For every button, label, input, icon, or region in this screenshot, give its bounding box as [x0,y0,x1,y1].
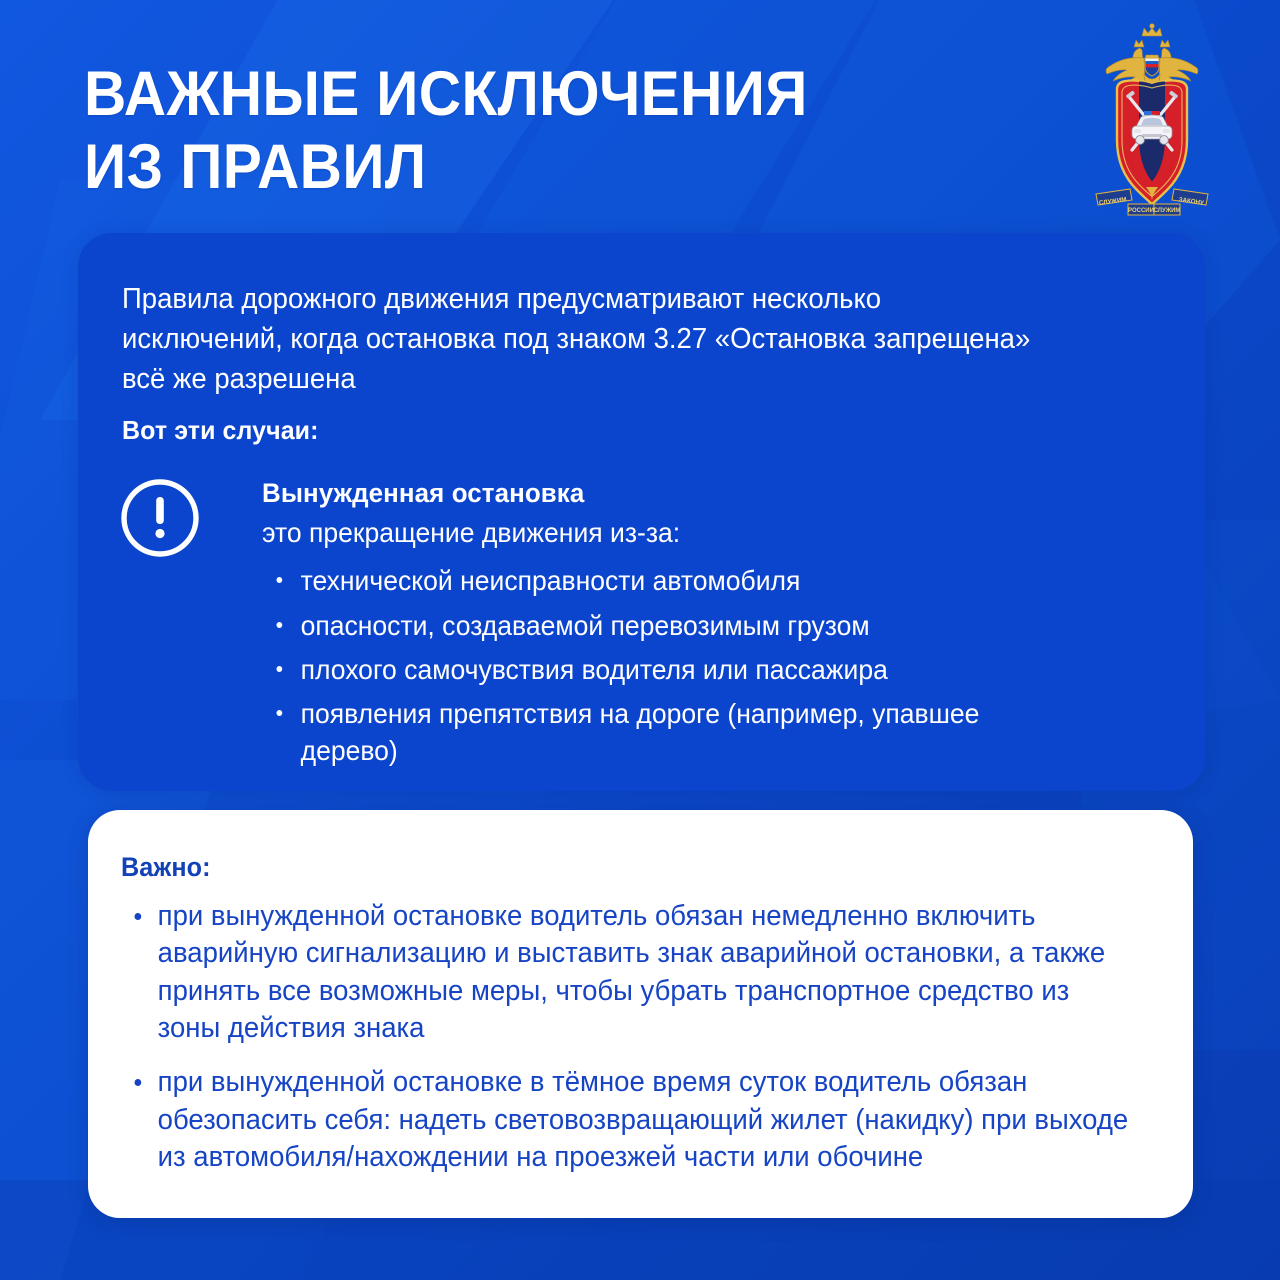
page-title: ВАЖНЫЕ ИСКЛЮЧЕНИЯ ИЗ ПРАВИЛ [84,58,921,204]
forced-stop-title: Вынужденная остановка [262,477,1088,509]
list-item-text: при вынужденной остановке водитель обяза… [158,900,1106,1044]
intro-paragraph: Правила дорожного движения предусматрива… [122,279,1044,400]
list-item: при вынужденной остановке водитель обяза… [121,898,1129,1047]
list-item: появления препятствия на дороге (наприме… [262,695,1063,769]
list-item-text: опасности, создаваемой перевозимым грузо… [301,610,870,641]
important-list: при вынужденной остановке водитель обяза… [121,898,1166,1193]
gibdd-emblem: СЛУЖИМ ЗАКОНУ РОССИИ СЛУЖИМ [1072,22,1232,232]
header: ВАЖНЫЕ ИСКЛЮЧЕНИЯ ИЗ ПРАВИЛ [0,0,1280,240]
list-item: технической неисправности автомобиля [262,562,1063,599]
important-label: Важно: [121,852,211,883]
poster-root: ВАЖНЫЕ ИСКЛЮЧЕНИЯ ИЗ ПРАВИЛ [0,0,1280,1280]
forced-stop-block: Вынужденная остановка это прекращение дв… [262,477,1122,776]
list-item-text: плохого самочувствия водителя или пассаж… [301,654,888,685]
cases-label: Вот эти случаи: [122,415,319,446]
list-item-text: появления препятствия на дороге (наприме… [301,698,980,766]
list-item: опасности, создаваемой перевозимым грузо… [262,607,1063,644]
bullet-dot-icon [135,1079,142,1086]
important-card: Важно: при вынужденной остановке водител… [88,810,1193,1218]
forced-stop-list: технической неисправности автомобиля опа… [262,562,1092,769]
exceptions-card: Правила дорожного движения предусматрива… [78,233,1205,791]
list-item-text: при вынужденной остановке в тёмное время… [158,1066,1129,1173]
bullet-dot-icon [135,913,142,920]
list-item-text: технической неисправности автомобиля [301,565,801,596]
emblem-ribbon-center-bottom: СЛУЖИМ [1154,208,1181,214]
emblem-ribbon-center-top: РОССИИ [1128,208,1154,214]
bullet-dot-icon [276,710,282,716]
list-item: плохого самочувствия водителя или пассаж… [262,651,1063,688]
exclamation-circle-icon [119,477,201,559]
bullet-dot-icon [276,577,282,583]
bullet-dot-icon [276,666,282,672]
forced-stop-subtitle: это прекращение движения из-за: [262,516,1092,549]
bullet-dot-icon [276,622,282,628]
list-item: при вынужденной остановке в тёмное время… [121,1064,1129,1176]
